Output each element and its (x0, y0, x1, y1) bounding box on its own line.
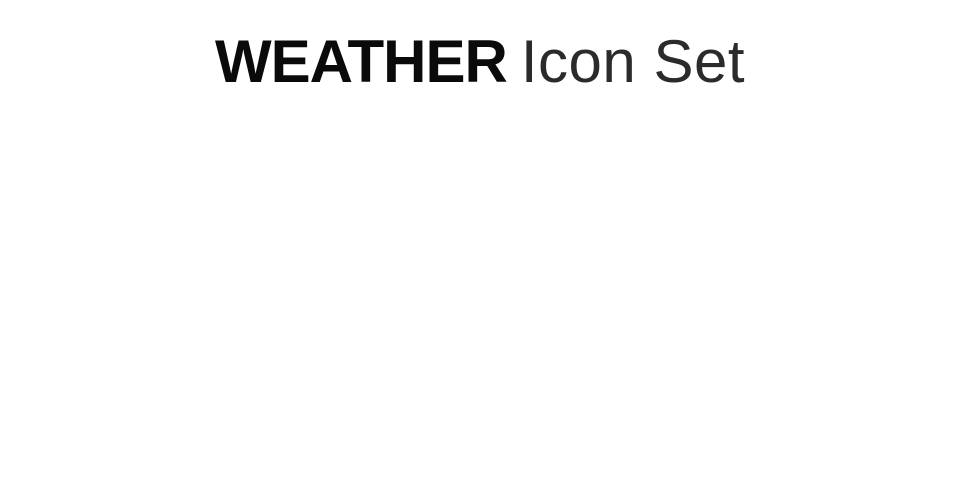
title-word-icon-set: Icon Set (521, 28, 745, 95)
title-word-weather: WEATHER (215, 28, 507, 95)
icon-grid (0, 104, 960, 464)
icon-set-canvas: WEATHERIcon Set (0, 0, 960, 480)
page-title: WEATHERIcon Set (0, 27, 960, 96)
